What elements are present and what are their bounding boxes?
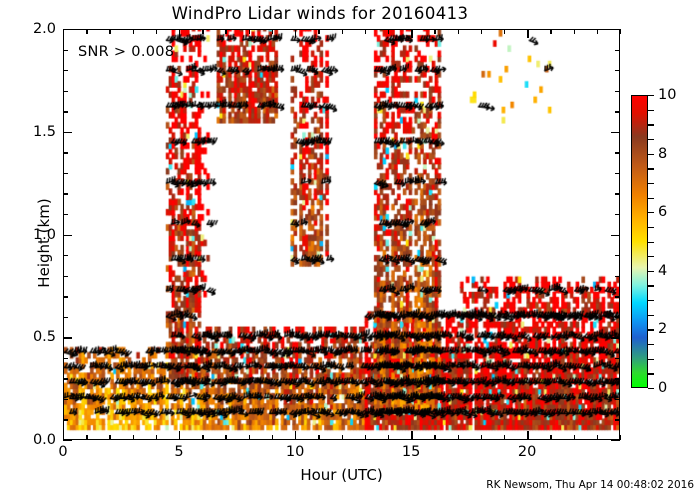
x-tick-top (342, 29, 343, 34)
x-tick (481, 435, 482, 440)
colorbar-tick (648, 329, 654, 330)
x-tick (318, 435, 319, 440)
x-tick (365, 435, 366, 440)
x-tick-label: 20 (518, 444, 536, 460)
y-tick (63, 235, 72, 236)
y-tick (63, 193, 68, 194)
y-tick (63, 70, 68, 71)
x-tick-top (249, 29, 250, 34)
x-tick (597, 435, 598, 440)
x-tick (550, 435, 551, 440)
snr-threshold-annotation: SNR > 0.008 (78, 44, 174, 60)
y-tick-right (615, 399, 620, 400)
y-tick (63, 276, 68, 277)
y-tick (63, 440, 72, 441)
x-tick-top (318, 29, 319, 34)
plot-area (63, 29, 620, 440)
x-tick-top (434, 29, 435, 34)
x-tick-top (481, 29, 482, 34)
y-tick-label: 0.0 (33, 432, 56, 448)
y-tick-right (615, 255, 620, 256)
x-tick (620, 435, 621, 440)
y-tick-right (615, 276, 620, 277)
x-tick (133, 435, 134, 440)
wind-speed-heatmap (64, 30, 619, 439)
y-tick (63, 152, 68, 153)
y-tick-right (611, 440, 620, 441)
x-tick-top (272, 29, 273, 34)
colorbar-tick-label: 10 (658, 87, 676, 103)
colorbar-tick (648, 242, 654, 243)
x-tick (225, 435, 226, 440)
colorbar-tick (648, 168, 654, 169)
colorbar-tick (648, 198, 654, 199)
x-tick (202, 435, 203, 440)
x-tick-top (63, 29, 64, 38)
x-tick-top (527, 29, 528, 38)
y-tick (63, 255, 68, 256)
y-tick (63, 296, 68, 297)
y-tick-right (615, 378, 620, 379)
x-tick-top (504, 29, 505, 34)
y-tick (63, 317, 68, 318)
x-tick (109, 435, 110, 440)
colorbar-tick (648, 183, 654, 184)
y-tick-right (611, 29, 620, 30)
x-tick (574, 435, 575, 440)
x-tick-top (156, 29, 157, 34)
x-tick (86, 435, 87, 440)
colorbar-tick-label: 8 (658, 146, 667, 162)
y-tick-right (615, 111, 620, 112)
colorbar-tick (648, 227, 654, 228)
y-tick (63, 399, 68, 400)
colorbar-tick (648, 344, 654, 345)
x-tick-top (597, 29, 598, 34)
y-tick-label: 1.5 (33, 124, 56, 140)
x-tick-label: 0 (58, 444, 67, 460)
x-tick-top (225, 29, 226, 34)
y-tick (63, 91, 68, 92)
y-tick (63, 358, 68, 359)
y-tick (63, 378, 68, 379)
y-tick-right (615, 70, 620, 71)
y-tick-right (615, 317, 620, 318)
x-tick (272, 435, 273, 440)
y-tick (63, 132, 72, 133)
y-tick-right (611, 337, 620, 338)
y-tick (63, 50, 68, 51)
credit-line: RK Newsom, Thu Apr 14 00:48:02 2016 (486, 479, 694, 491)
x-tick (179, 431, 180, 440)
colorbar-tick (648, 139, 654, 140)
x-tick (504, 435, 505, 440)
x-tick-top (574, 29, 575, 34)
x-tick-top (550, 29, 551, 34)
colorbar-gradient (631, 95, 648, 388)
x-tick-top (202, 29, 203, 34)
x-tick (458, 435, 459, 440)
y-tick-label: 0.5 (33, 329, 56, 345)
x-tick (295, 431, 296, 440)
y-tick-right (611, 235, 620, 236)
colorbar-tick (648, 95, 654, 96)
colorbar-tick (648, 388, 654, 389)
colorbar-tick (648, 359, 654, 360)
y-tick-right (615, 193, 620, 194)
x-tick-top (411, 29, 412, 38)
x-tick (434, 435, 435, 440)
colorbar-tick (648, 315, 654, 316)
x-tick (342, 435, 343, 440)
colorbar-tick-label: 6 (658, 204, 667, 220)
x-tick (249, 435, 250, 440)
page-title: WindPro Lidar winds for 20160413 (0, 4, 640, 23)
x-tick-top (620, 29, 621, 34)
y-tick-right (615, 358, 620, 359)
y-tick-right (615, 296, 620, 297)
colorbar-tick (648, 300, 654, 301)
colorbar-tick (648, 212, 654, 213)
x-tick (411, 431, 412, 440)
y-tick-right (615, 419, 620, 420)
colorbar-tick (648, 124, 654, 125)
y-tick-label: 2.0 (33, 21, 56, 37)
colorbar-tick (648, 285, 654, 286)
colorbar-tick-label: 2 (658, 321, 667, 337)
y-tick-right (611, 132, 620, 133)
x-tick-top (86, 29, 87, 34)
y-tick-right (615, 91, 620, 92)
x-tick-top (133, 29, 134, 34)
x-tick (156, 435, 157, 440)
y-tick (63, 214, 68, 215)
y-tick-right (615, 173, 620, 174)
y-tick (63, 173, 68, 174)
colorbar-tick (648, 373, 654, 374)
colorbar: 0246810 (631, 95, 648, 388)
colorbar-tick (648, 154, 654, 155)
x-tick-label: 5 (174, 444, 183, 460)
x-tick-label: 15 (402, 444, 420, 460)
y-tick (63, 337, 72, 338)
y-tick-right (615, 50, 620, 51)
x-tick-top (365, 29, 366, 34)
x-tick-top (388, 29, 389, 34)
colorbar-tick-label: 4 (658, 263, 667, 279)
y-tick (63, 111, 68, 112)
colorbar-tick (648, 256, 654, 257)
y-tick (63, 419, 68, 420)
x-tick (63, 431, 64, 440)
x-tick-top (458, 29, 459, 34)
y-tick-right (615, 152, 620, 153)
colorbar-tick (648, 110, 654, 111)
x-tick-label: 10 (286, 444, 304, 460)
y-tick-right (615, 214, 620, 215)
x-tick (388, 435, 389, 440)
x-tick-top (295, 29, 296, 38)
y-axis-title: Height (km) (35, 163, 53, 323)
x-tick (527, 431, 528, 440)
colorbar-tick-label: 0 (658, 380, 667, 396)
colorbar-tick (648, 271, 654, 272)
x-tick-top (179, 29, 180, 38)
x-tick-top (109, 29, 110, 34)
